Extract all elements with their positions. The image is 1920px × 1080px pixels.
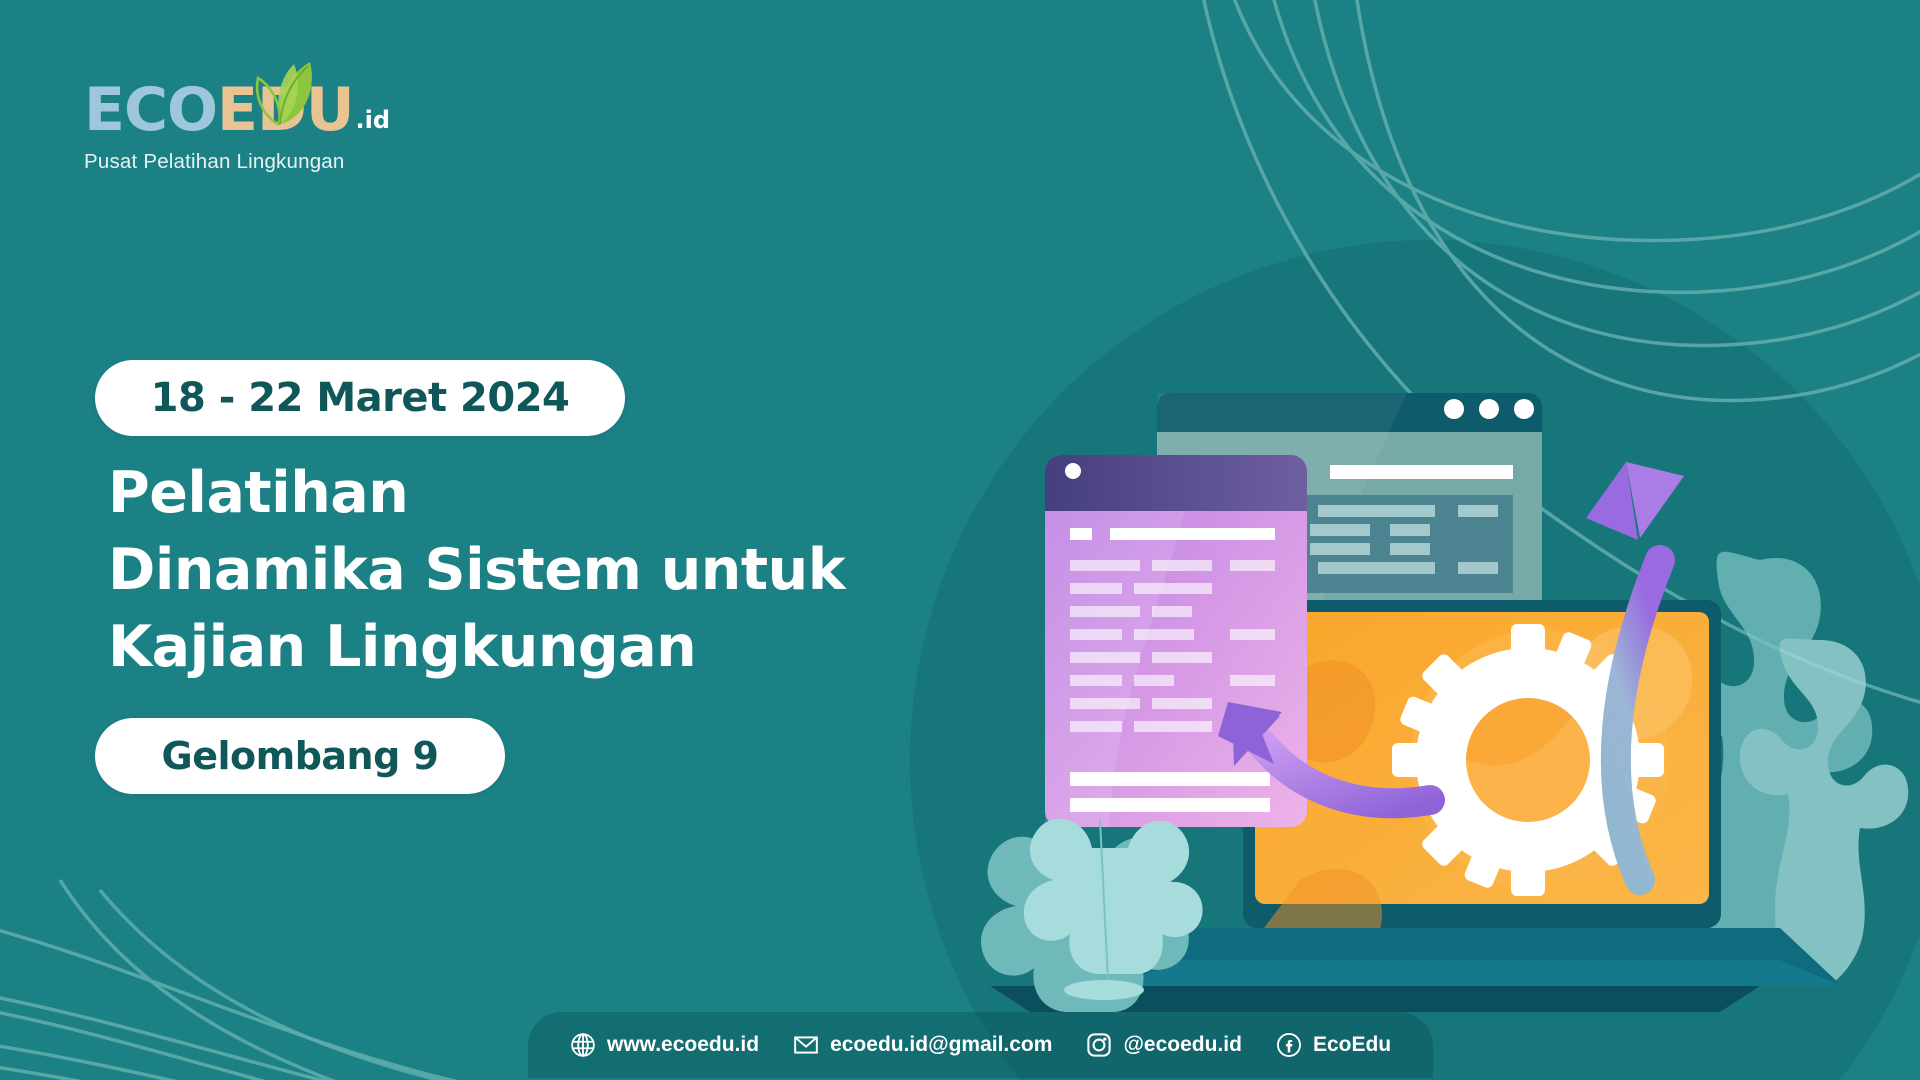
contact-facebook[interactable]: EcoEdu [1276, 1032, 1391, 1058]
envelope-icon [793, 1032, 819, 1058]
title-line-3: Kajian Lingkungan [108, 609, 1008, 686]
contact-email[interactable]: ecoedu.id@gmail.com [793, 1032, 1052, 1058]
globe-icon [570, 1032, 596, 1058]
logo-tagline: Pusat Pelatihan Lingkungan [84, 150, 444, 174]
page-title: Pelatihan Dinamika Sistem untuk Kajian L… [108, 455, 1008, 686]
title-line-2: Dinamika Sistem untuk [108, 532, 1008, 609]
logo-tld-text: .id [356, 106, 391, 140]
facebook-icon [1276, 1032, 1302, 1058]
instagram-icon [1086, 1032, 1112, 1058]
contact-website[interactable]: www.ecoedu.id [570, 1032, 759, 1058]
contact-instagram[interactable]: @ecoedu.id [1086, 1032, 1242, 1058]
date-badge: 18 - 22 Maret 2024 [95, 360, 625, 436]
contact-email-label: ecoedu.id@gmail.com [830, 1033, 1052, 1057]
promo-poster: ECO EDU .id Pusat Pelatihan Lingkungan 1… [0, 0, 1920, 1080]
title-line-1: Pelatihan [108, 455, 1008, 532]
contact-website-label: www.ecoedu.id [607, 1033, 759, 1057]
logo-wordmark: ECO EDU .id [84, 80, 444, 140]
wave-badge: Gelombang 9 [95, 718, 505, 794]
contact-facebook-label: EcoEdu [1313, 1033, 1391, 1057]
contact-bar: www.ecoedu.id ecoedu.id@gmail.com @ecoed… [528, 1012, 1433, 1078]
leaf-icon [236, 58, 316, 130]
contact-instagram-label: @ecoedu.id [1123, 1033, 1242, 1057]
brand-logo: ECO EDU .id Pusat Pelatihan Lingkungan [84, 80, 444, 174]
logo-eco-text: ECO [84, 80, 217, 140]
